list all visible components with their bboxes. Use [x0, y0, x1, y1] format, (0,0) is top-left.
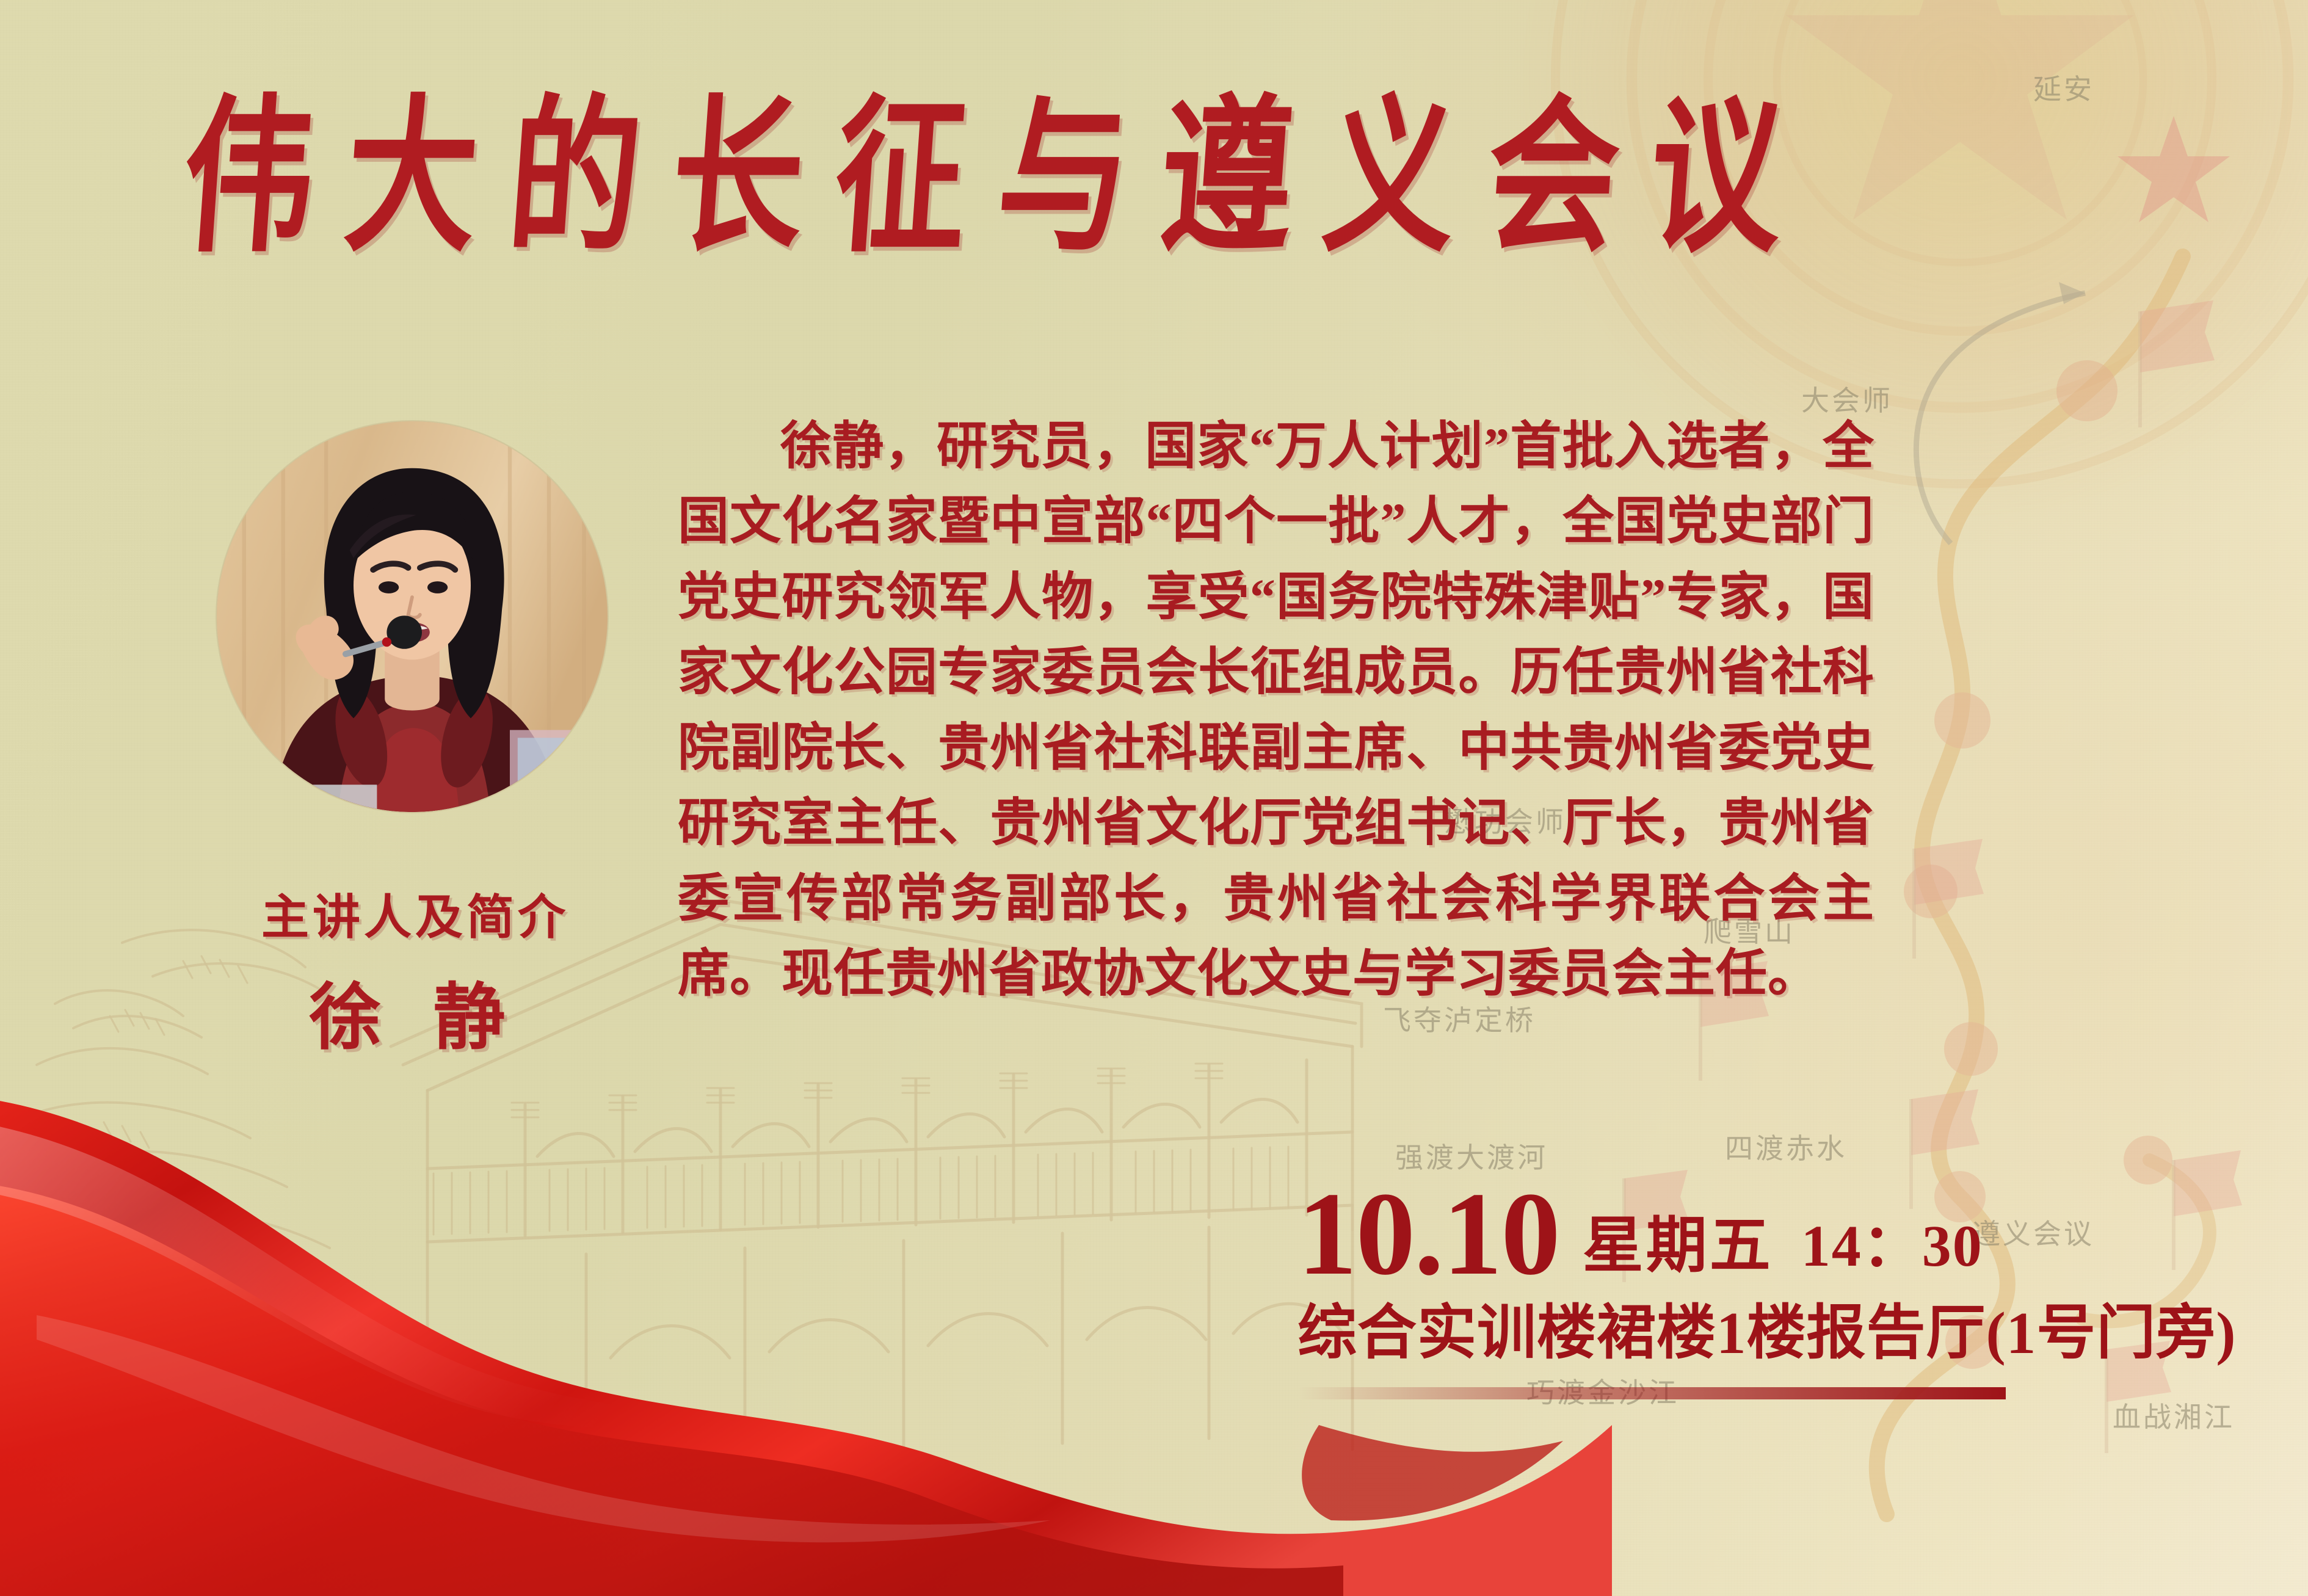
map-label: 血战湘江 — [2113, 1395, 2235, 1435]
accent-rule — [1297, 1387, 2006, 1399]
map-label: 四渡赤水 — [1725, 1126, 1847, 1167]
event-details: 10.10 星期五 14：30 综合实训楼裙楼1楼报告厅(1号门旁) — [1297, 1178, 2250, 1399]
speaker-name: 徐 静 — [238, 959, 592, 1063]
event-time: 14：30 — [1801, 1217, 1983, 1275]
event-venue: 综合实训楼裙楼1楼报告厅(1号门旁) — [1297, 1301, 2250, 1366]
poster-canvas: 延安 大会师 懋功会师 爬雪山 飞夺泸定桥 强渡大渡河 四渡赤水 遵义会议 巧渡… — [0, 0, 2308, 1596]
event-date-line: 10.10 星期五 14：30 — [1297, 1178, 2250, 1290]
event-weekday: 星期五 — [1583, 1216, 1773, 1277]
event-date: 10.10 — [1297, 1178, 1559, 1290]
page-title: 伟大的长征与遵义会议 — [177, 95, 1898, 263]
speaker-section-label: 主讲人及简介 — [238, 879, 592, 948]
speaker-bio: 徐静，研究员，国家“万人计划”首批入选者，全国文化名家暨中宣部“四个一批”人才，… — [678, 409, 1874, 1012]
map-label: 延安 — [2033, 67, 2094, 107]
speaker-portrait-photo — [217, 421, 608, 812]
